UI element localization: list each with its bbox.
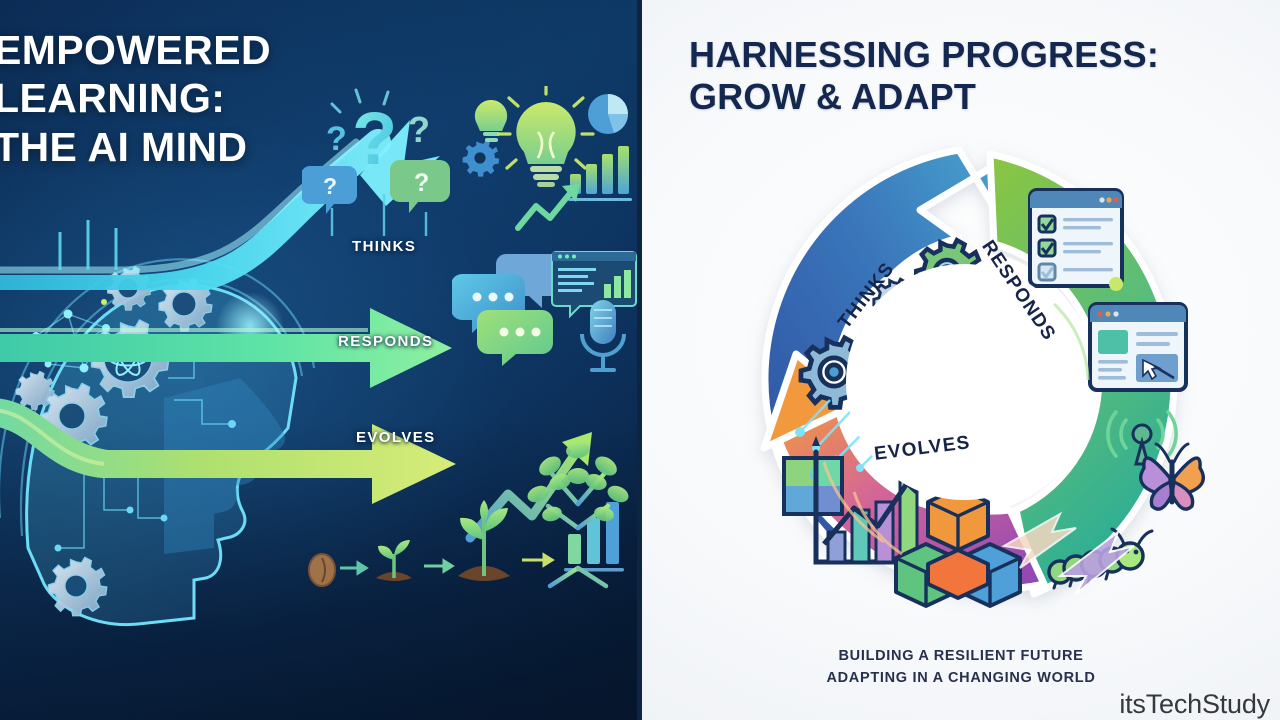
watermark: itsTechStudy — [1119, 689, 1270, 720]
infographic-canvas: THINKS RESPONDS EVOLVES — [0, 0, 1280, 720]
thinks-arrow-label: THINKS — [352, 238, 416, 255]
thinks-icon-cluster: ? ? ? ? ? — [302, 86, 632, 251]
responds-icon-cluster — [452, 248, 637, 388]
lightbulb-small-icon — [475, 100, 507, 142]
growth-sequence-cluster — [300, 370, 637, 620]
svg-text:?: ? — [414, 169, 429, 197]
svg-text:?: ? — [326, 120, 347, 158]
left-panel: THINKS RESPONDS EVOLVES — [0, 0, 637, 720]
microphone-icon — [582, 300, 624, 372]
arrow-step-1-icon — [340, 563, 366, 573]
seed-icon — [309, 554, 335, 586]
gear-icon — [463, 140, 500, 177]
evolves-arrow-label: EVOLVES — [356, 429, 436, 446]
arrow-step-2-icon — [424, 561, 452, 571]
sprout-icon — [376, 540, 412, 581]
bar-chart-icon — [564, 502, 624, 572]
plant-icon — [458, 500, 510, 581]
footer-line-1: BUILDING A RESILIENT FUTURE — [642, 645, 1280, 667]
svg-text:?: ? — [408, 109, 430, 150]
arrow-step-3-icon — [522, 555, 552, 565]
left-panel-title: EMPOWERED LEARNING: THE AI MIND — [0, 26, 271, 171]
footer-line-2: ADAPTING IN A CHANGING WORLD — [642, 667, 1280, 689]
browser-window-icon — [1090, 304, 1186, 390]
right-panel-title: HARNESSING PROGRESS: GROW & ADAPT — [689, 34, 1159, 118]
question-bubble-icon: ? — [302, 166, 357, 214]
right-panel-footer: BUILDING A RESILIENT FUTURE ADAPTING IN … — [642, 645, 1280, 690]
cycle-diagram — [704, 132, 1224, 632]
trend-up-arrow-icon — [518, 184, 580, 228]
responds-arrow-label: RESPONDS — [338, 333, 433, 350]
lightbulb-icon — [499, 86, 593, 187]
question-bubble-green-icon: ? — [390, 160, 450, 213]
svg-text:?: ? — [323, 173, 337, 199]
chat-bubble-green-icon — [477, 310, 553, 366]
right-panel: HARNESSING PROGRESS: GROW & ADAPT — [637, 0, 1280, 720]
pie-chart-icon — [588, 94, 628, 134]
checklist-window-icon — [1030, 190, 1122, 286]
